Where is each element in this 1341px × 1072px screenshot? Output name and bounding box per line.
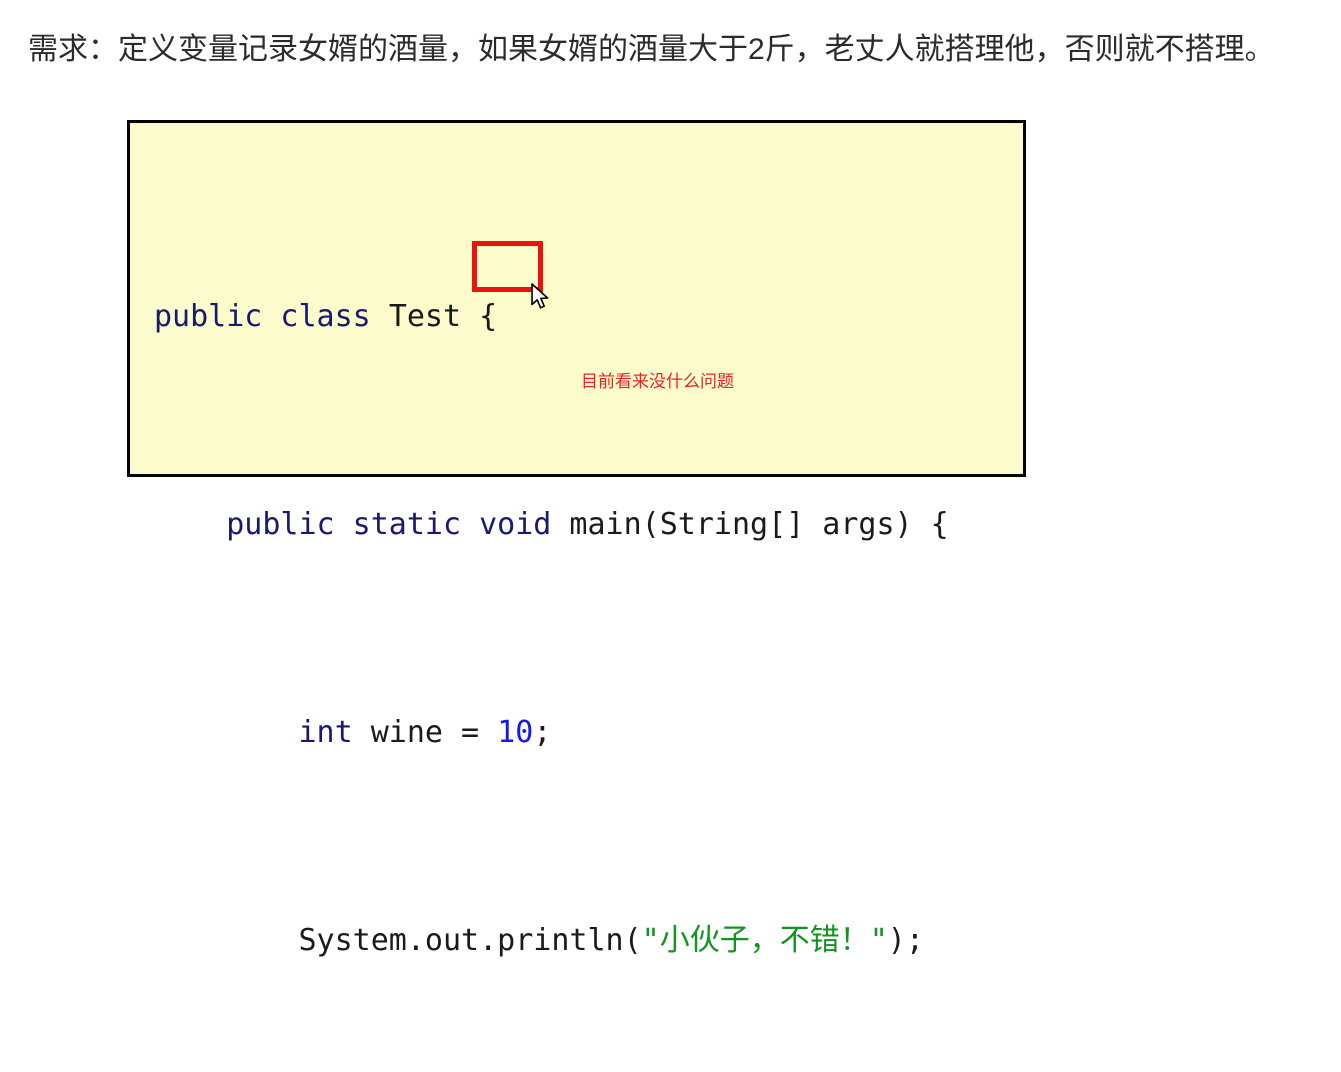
code-line-1-keyword: public class bbox=[154, 299, 389, 334]
code-line-2: public static void main(String[] args) { bbox=[154, 499, 1023, 551]
code-line-4-indent bbox=[154, 923, 299, 958]
code-line-3-indent bbox=[154, 715, 299, 750]
code-line-4-string-literal: "小伙子，不错！" bbox=[642, 923, 888, 958]
annotation-note: 目前看来没什么问题 bbox=[581, 371, 734, 393]
requirement-statement: 需求：定义变量记录女婿的酒量，如果女婿的酒量大于2斤，老丈人就搭理他，否则就不搭… bbox=[28, 30, 1328, 70]
code-line-2-keyword: public static void bbox=[226, 507, 569, 542]
code-line-1: public class Test { bbox=[154, 291, 1023, 343]
code-line-2-indent bbox=[154, 507, 226, 542]
code-line-4-tail: ); bbox=[888, 923, 924, 958]
code-line-3-keyword: int bbox=[299, 715, 371, 750]
code-line-3: int wine = 10; bbox=[154, 707, 1023, 759]
code-line-3-variable: wine = bbox=[371, 715, 497, 750]
code-line-3-value: 10 bbox=[497, 715, 533, 750]
code-line-4: System.out.println("小伙子，不错！"); bbox=[154, 915, 1023, 967]
code-line-2-text: main(String[] args) { bbox=[569, 507, 948, 542]
code-line-3-semicolon: ; bbox=[533, 715, 551, 750]
code-content: public class Test { public static void m… bbox=[154, 135, 1023, 474]
code-line-1-text: Test { bbox=[389, 299, 497, 334]
code-line-4-call: System.out.println( bbox=[299, 923, 642, 958]
code-block-card: public class Test { public static void m… bbox=[127, 120, 1026, 477]
